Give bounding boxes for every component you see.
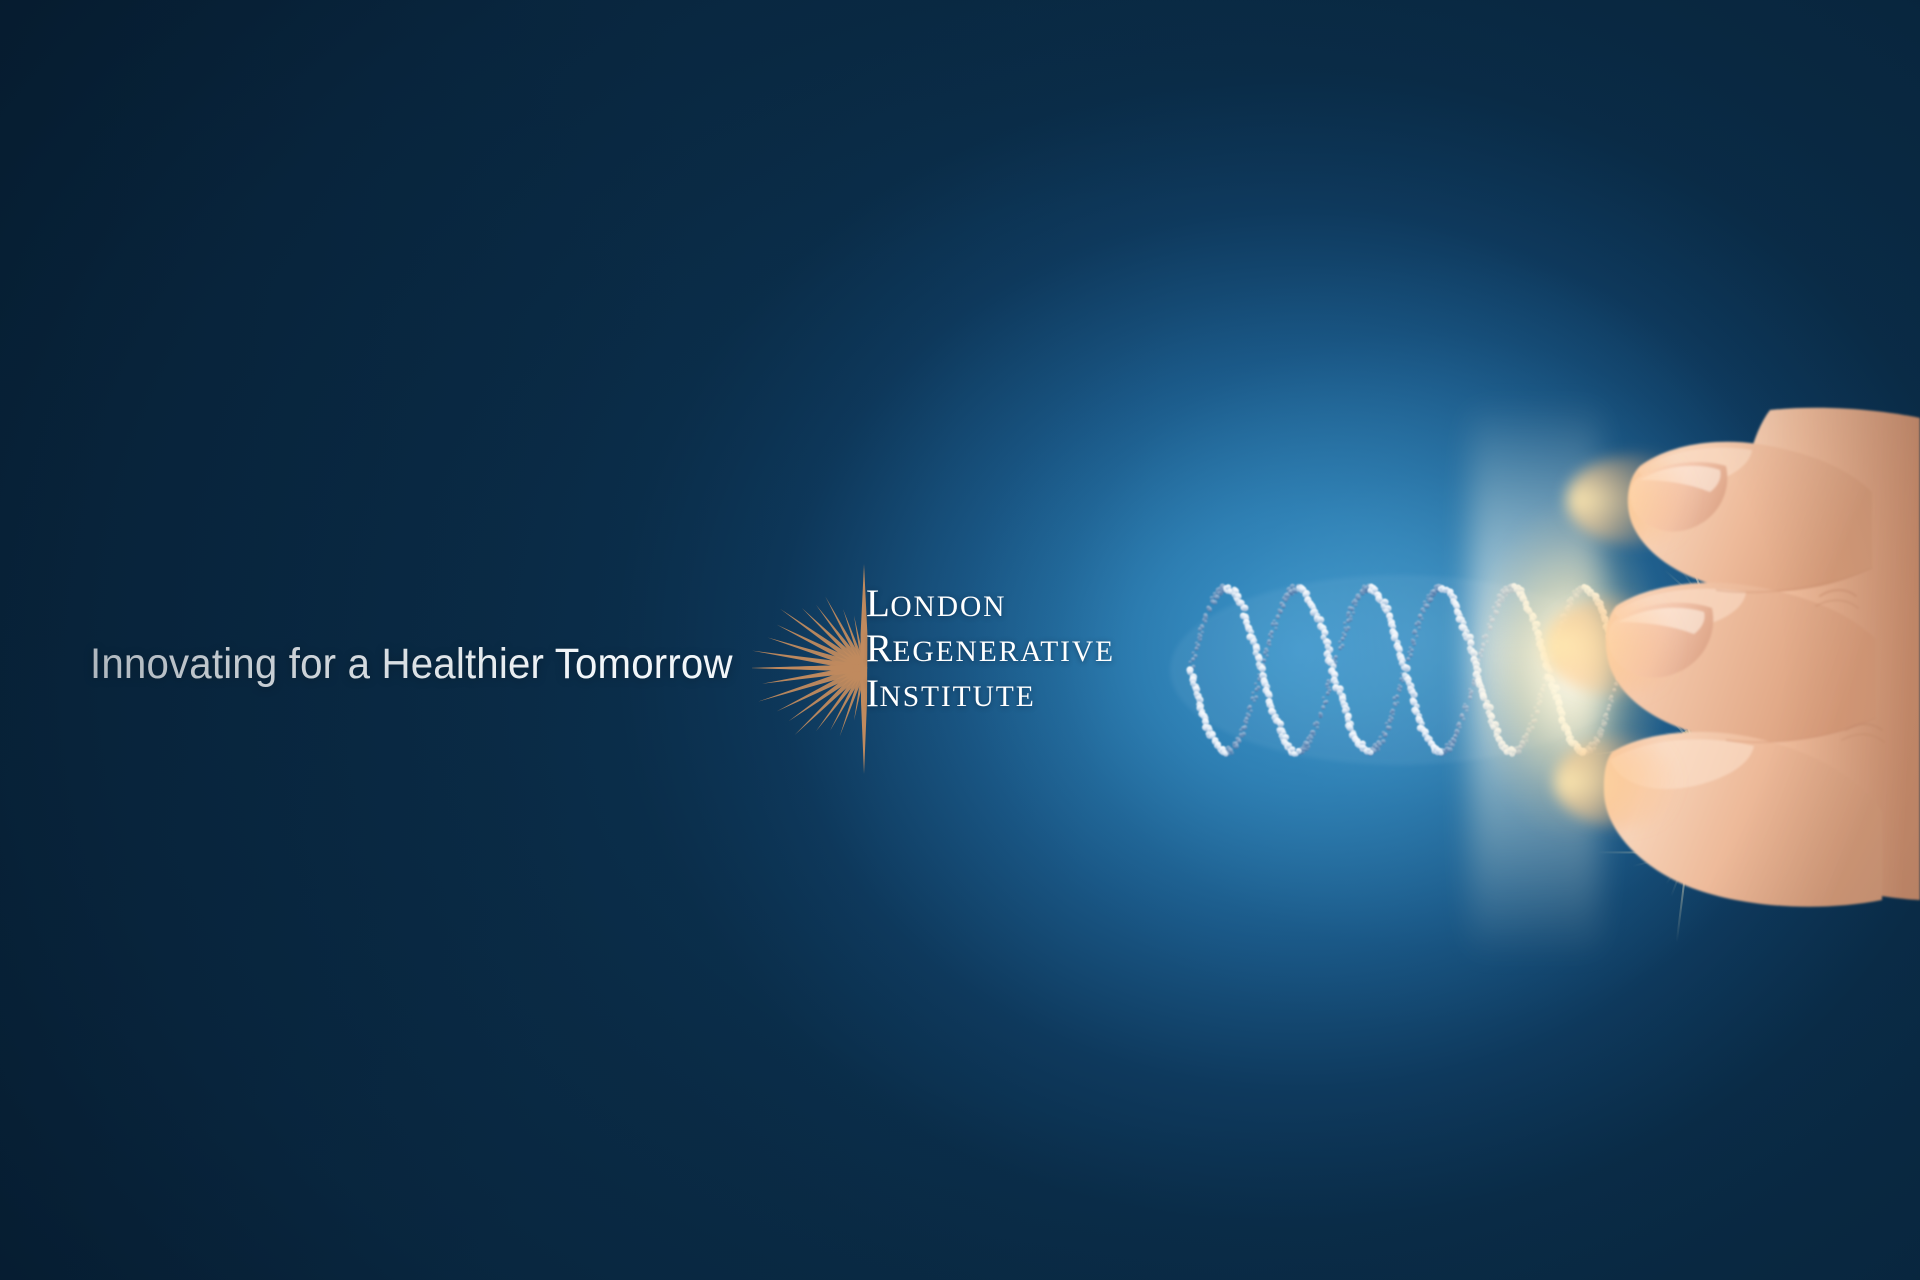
background-vignette bbox=[0, 0, 1920, 1280]
hero-banner: Innovating for a Healthier Tomorrow LOND… bbox=[0, 0, 1920, 1280]
